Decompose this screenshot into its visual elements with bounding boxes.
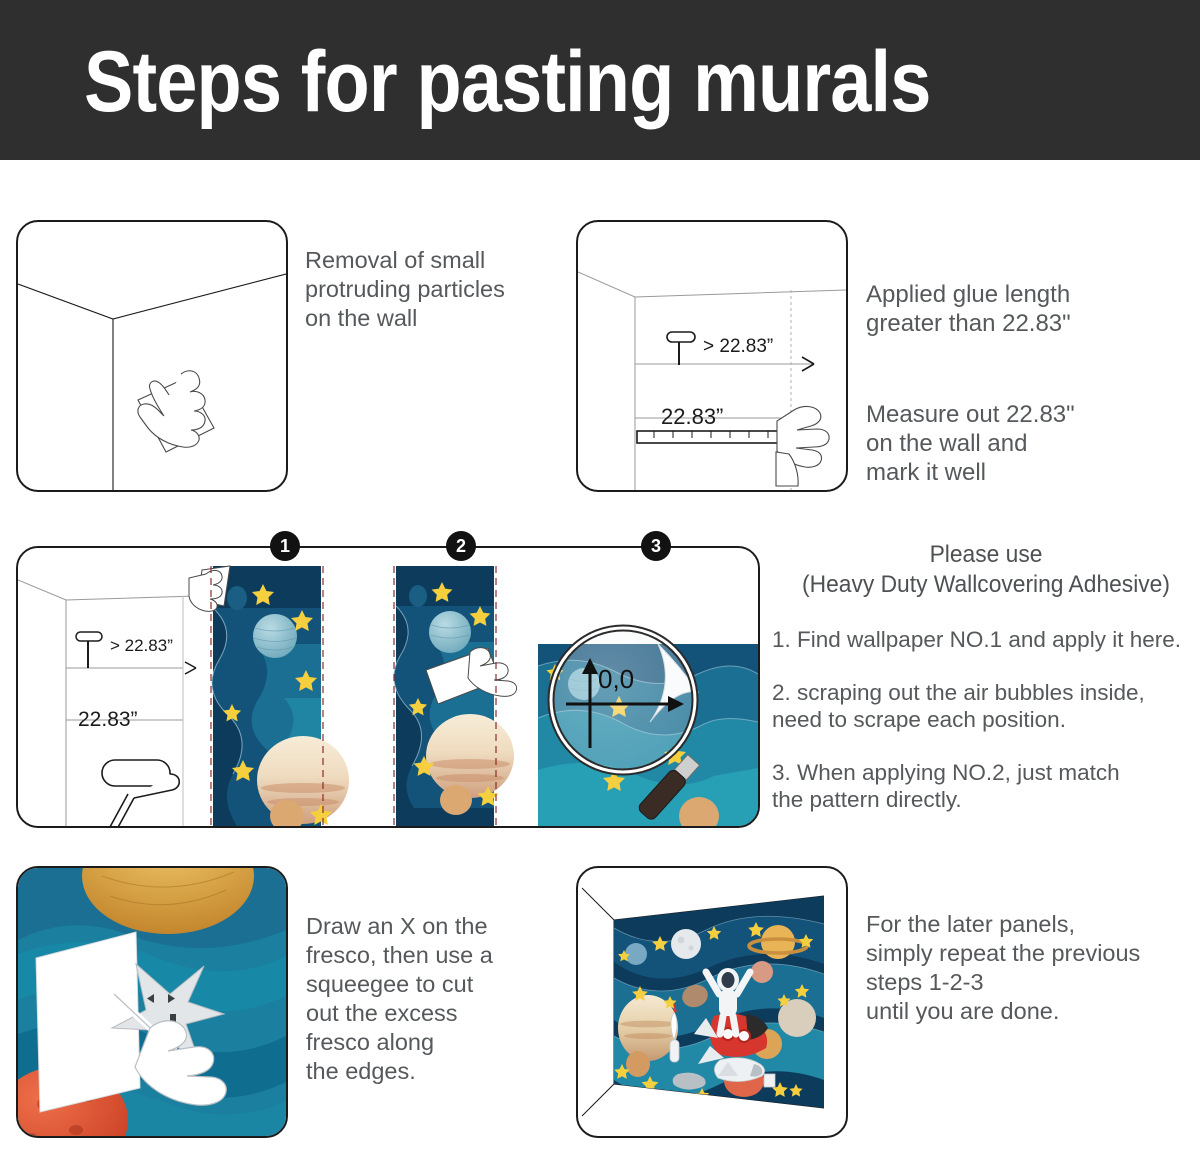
panel-finished-mural (576, 866, 848, 1138)
caption-measure-wall: Measure out 22.83" on the wall and mark … (866, 400, 1186, 487)
tape-measure-icon (637, 431, 791, 443)
instructions-heading-line1: Please use (783, 540, 1190, 570)
instruction-item-3: 3. When applying NO.2, just match the pa… (772, 759, 1200, 813)
roller-length-label: > 22.83” (703, 336, 773, 357)
wall-dimension-label: 22.83” (661, 404, 723, 429)
wall-measure-illustration: > 22.83” 22.83” (578, 222, 846, 490)
instructions-heading-line2: (Heavy Duty Wallcovering Adhesive) (783, 570, 1190, 600)
finished-mural-illustration (578, 868, 846, 1136)
blue-planet (625, 943, 647, 965)
caption-trim-fresco: Draw an X on the fresco, then use a sque… (306, 912, 576, 1086)
step-badge-2: 2 (446, 531, 476, 561)
caption-wall-prep: Removal of small protruding particles on… (305, 246, 595, 333)
panel-application-strip: > 22.83” 22.83” (16, 546, 760, 828)
roller-icon (667, 332, 695, 365)
panel-wall-prep (16, 220, 288, 492)
page-header: Steps for pasting murals (0, 0, 1200, 160)
moon (671, 929, 701, 959)
caption-finished-mural: For the later panels, simply repeat the … (866, 910, 1200, 1026)
trim-fresco-illustration (18, 868, 286, 1136)
strip-roller-length-label: > 22.83” (110, 636, 173, 655)
instruction-item-1: 1. Find wallpaper NO.1 and apply it here… (772, 626, 1200, 653)
panel-wall-measure: > 22.83” 22.83” (576, 220, 848, 492)
hand-icon (776, 406, 829, 486)
caption-glue-length: Applied glue length greater than 22.83" (866, 280, 1176, 338)
instructions-block: Please use (Heavy Duty Wallcovering Adhe… (772, 540, 1200, 813)
step-badge-3: 3 (641, 531, 671, 561)
origin-label: 0,0 (598, 664, 634, 694)
wall-corner-illustration (18, 222, 286, 490)
page-title: Steps for pasting murals (84, 36, 931, 128)
panel-trim-fresco (16, 866, 288, 1138)
step-badge-1: 1 (270, 531, 300, 561)
instruction-item-2: 2. scraping out the air bubbles inside, … (772, 679, 1200, 733)
strip-dimension-label: 22.83” (78, 708, 138, 731)
hand-with-scraper-icon (138, 371, 214, 452)
application-strip-illustration: > 22.83” 22.83” (18, 548, 758, 826)
